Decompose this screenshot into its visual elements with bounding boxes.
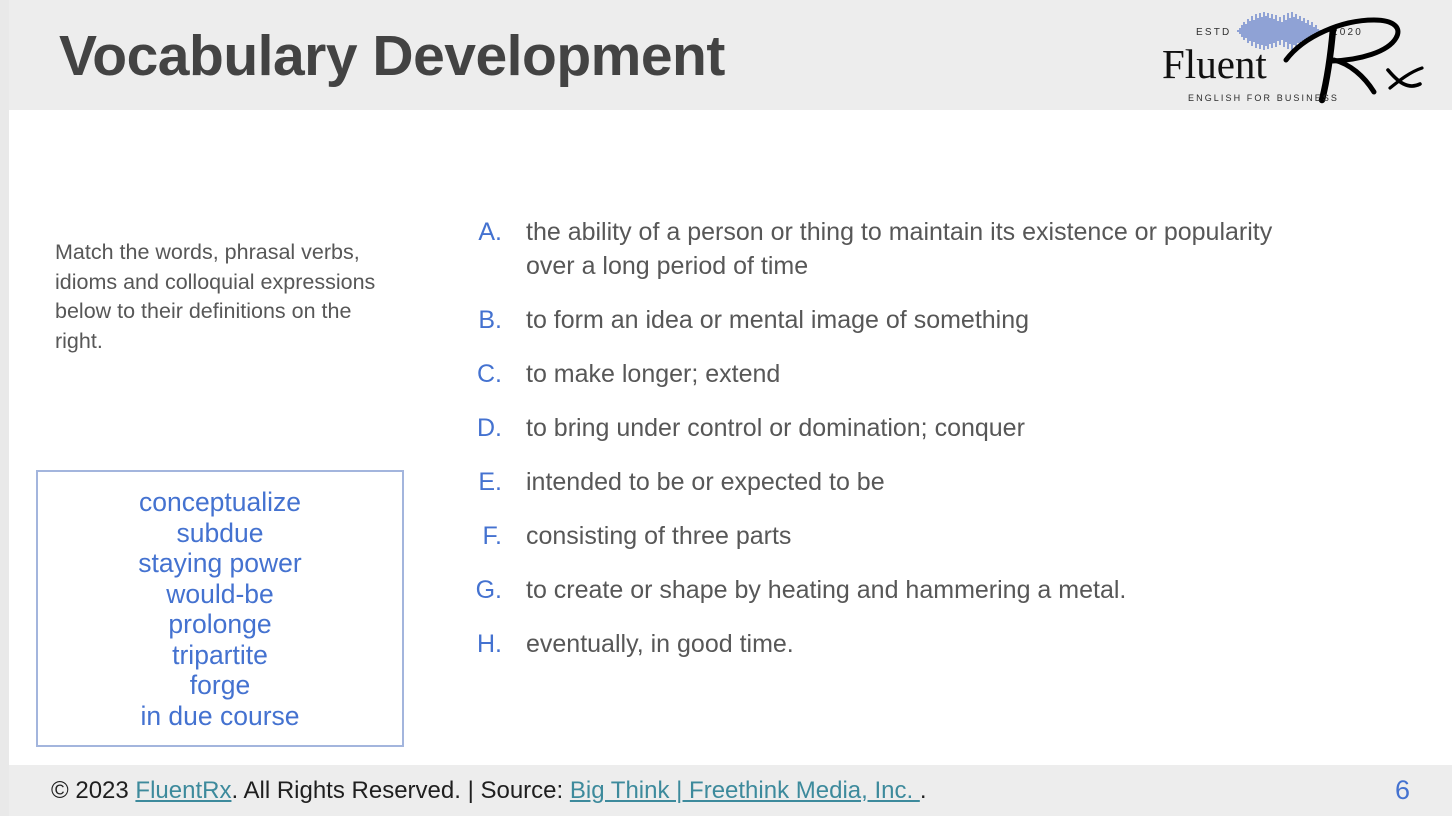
word-bank-item: subdue <box>38 518 402 549</box>
definition-letter: A. <box>460 215 502 249</box>
word-bank-item: staying power <box>38 548 402 579</box>
page-number: 6 <box>1395 774 1410 806</box>
definition-letter: F. <box>460 519 502 553</box>
definition-row: D. to bring under control or domination;… <box>460 411 1340 445</box>
word-bank-item: in due course <box>38 701 402 732</box>
definition-text: to bring under control or domination; co… <box>526 411 1025 445</box>
logo-tagline: ENGLISH FOR BUSINESS <box>1188 93 1339 103</box>
fluentrx-logo: ESTD 2020 <box>1148 8 1440 108</box>
definition-letter: G. <box>460 573 502 607</box>
instructions-text: Match the words, phrasal verbs, idioms a… <box>55 238 385 356</box>
definition-letter: E. <box>460 465 502 499</box>
definition-text: consisting of three parts <box>526 519 791 553</box>
definition-row: F. consisting of three parts <box>460 519 1340 553</box>
definition-text: intended to be or expected to be <box>526 465 885 499</box>
definition-letter: C. <box>460 357 502 391</box>
definition-text: eventually, in good time. <box>526 627 794 661</box>
word-bank-item: prolonge <box>38 609 402 640</box>
source-link[interactable]: Big Think | Freethink Media, Inc. <box>570 777 920 804</box>
word-bank-item: forge <box>38 670 402 701</box>
definition-row: A. the ability of a person or thing to m… <box>460 215 1340 283</box>
definition-text: the ability of a person or thing to main… <box>526 215 1316 283</box>
definition-row: E. intended to be or expected to be <box>460 465 1340 499</box>
definition-text: to form an idea or mental image of somet… <box>526 303 1029 337</box>
definition-letter: D. <box>460 411 502 445</box>
footer-suffix: . <box>920 777 927 804</box>
logo-estd-label: ESTD <box>1196 27 1231 38</box>
definitions-list: A. the ability of a person or thing to m… <box>460 215 1340 681</box>
footer-copyright-prefix: © 2023 <box>51 777 135 804</box>
word-bank-item: conceptualize <box>38 487 402 518</box>
page-title: Vocabulary Development <box>59 21 725 91</box>
logo-wordmark: Fluent <box>1162 41 1267 87</box>
word-bank-box: conceptualize subdue staying power would… <box>36 470 404 747</box>
word-bank-item: tripartite <box>38 640 402 671</box>
definition-letter: B. <box>460 303 502 337</box>
definition-row: G. to create or shape by heating and ham… <box>460 573 1340 607</box>
definition-text: to create or shape by heating and hammer… <box>526 573 1126 607</box>
definition-row: C. to make longer; extend <box>460 357 1340 391</box>
footer-middle-text: . All Rights Reserved. | Source: <box>231 777 569 804</box>
rx-script-icon <box>1276 14 1440 104</box>
definition-row: H. eventually, in good time. <box>460 627 1340 661</box>
left-edge-strip <box>0 0 9 816</box>
definition-row: B. to form an idea or mental image of so… <box>460 303 1340 337</box>
definition-text: to make longer; extend <box>526 357 780 391</box>
word-bank-item: would-be <box>38 579 402 610</box>
slide-canvas: Vocabulary Development ESTD 2020 <box>0 0 1452 816</box>
definition-letter: H. <box>460 627 502 661</box>
footer-copyright: © 2023 FluentRx. All Rights Reserved. | … <box>51 776 926 806</box>
word-bank-list: conceptualize subdue staying power would… <box>38 487 402 731</box>
fluentrx-link[interactable]: FluentRx <box>135 777 231 804</box>
